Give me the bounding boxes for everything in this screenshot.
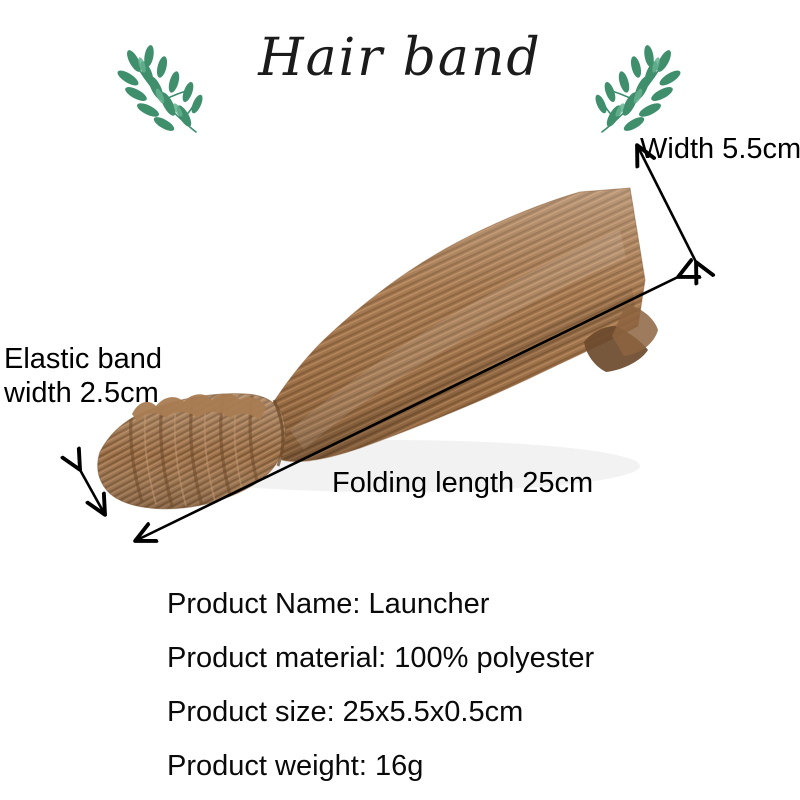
- spec-product-name: Product Name: Launcher: [167, 583, 767, 637]
- elastic-width-dimension-label: Elastic band width 2.5cm: [4, 342, 162, 410]
- width-dimension-label: Width 5.5cm: [640, 132, 800, 166]
- length-dimension-label: Folding length 25cm: [332, 466, 593, 500]
- spec-product-weight: Product weight: 16g: [167, 745, 767, 799]
- product-spec-list: Product Name: Launcher Product material:…: [167, 583, 767, 799]
- product-infographic: Hair band: [0, 0, 800, 800]
- elastic-label-line-1: Elastic band: [4, 342, 162, 376]
- olive-branch-icon: [584, 34, 694, 144]
- spec-product-material: Product material: 100% polyester: [167, 637, 767, 691]
- spec-product-size: Product size: 25x5.5x0.5cm: [167, 691, 767, 745]
- elastic-label-line-2: width 2.5cm: [4, 376, 162, 410]
